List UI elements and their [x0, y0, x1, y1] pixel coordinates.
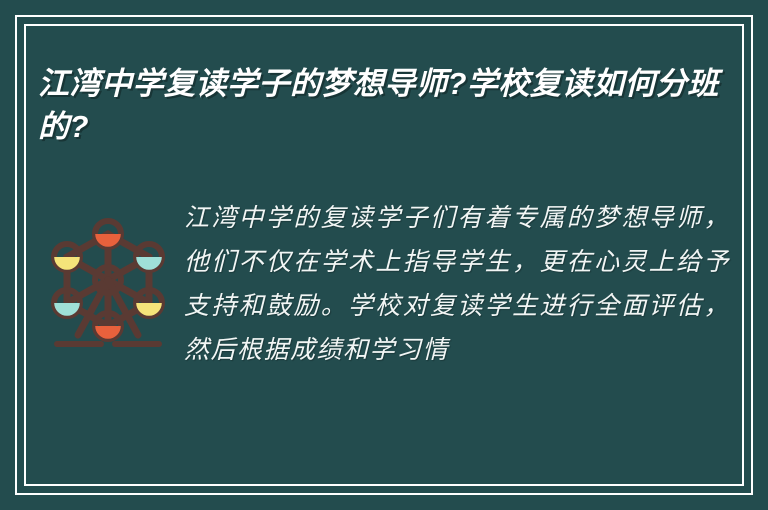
illustration-container [38, 196, 178, 354]
content-row: 江湾中学的复读学子们有着专属的梦想导师，他们不仅在学术上指导学生，更在心灵上给予… [38, 196, 730, 472]
page-title: 江湾中学复读学子的梦想导师?学校复读如何分班的? [38, 62, 728, 148]
article-card: 江湾中学复读学子的梦想导师?学校复读如何分班的? [0, 0, 768, 510]
ferris-wheel-icon [43, 204, 173, 354]
article-body-text: 江湾中学的复读学子们有着专属的梦想导师，他们不仅在学术上指导学生，更在心灵上给予… [178, 196, 730, 372]
